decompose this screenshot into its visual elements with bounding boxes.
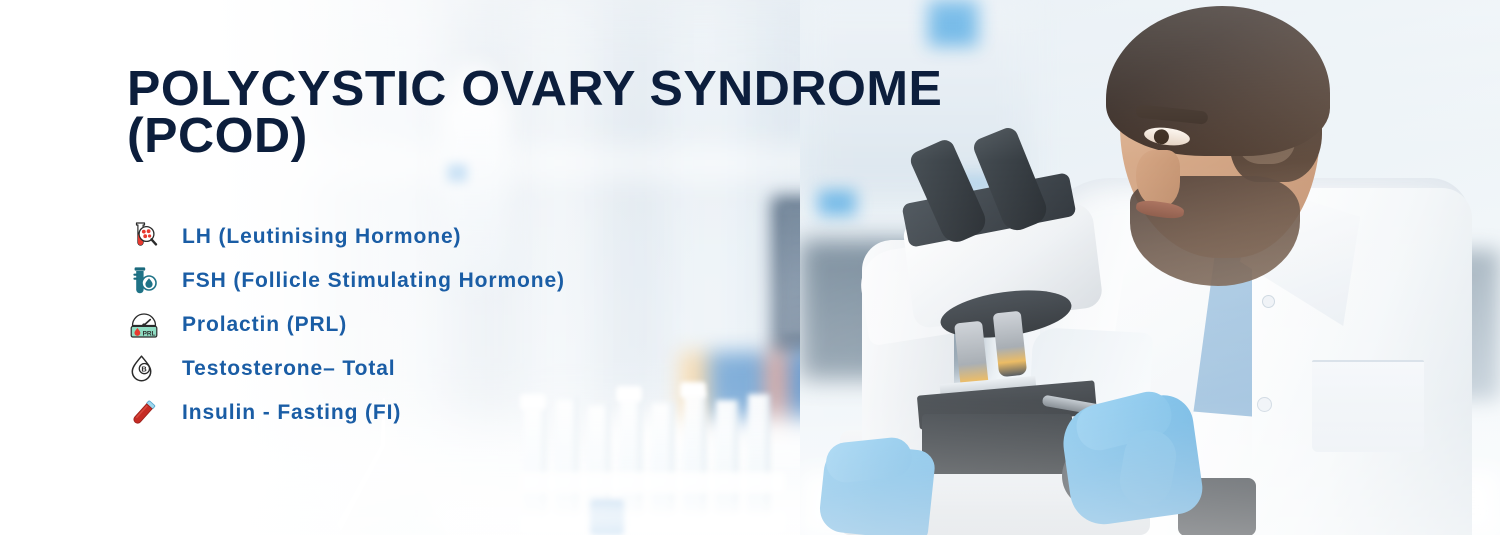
test-list: LH (Leutinising Hormone) FSH (Follicle S…: [128, 215, 565, 435]
list-item-label: FSH (Follicle Stimulating Hormone): [182, 269, 565, 293]
tilted-blood-tube-icon: [128, 394, 172, 432]
list-item-label: LH (Leutinising Hormone): [182, 225, 461, 249]
prl-gauge-meter-icon: PRL: [128, 306, 172, 344]
list-item: Insulin - Fasting (FI): [128, 391, 565, 435]
list-item: LH (Leutinising Hormone): [128, 215, 565, 259]
list-item: FSH (Follicle Stimulating Hormone): [128, 259, 565, 303]
list-item-label: Insulin - Fasting (FI): [182, 401, 401, 425]
list-item: B Testosterone– Total: [128, 347, 565, 391]
banner-content: POLYCYSTIC OVARY SYNDROME (PCOD) L: [0, 0, 1500, 535]
svg-text:B: B: [141, 364, 146, 373]
list-item-label: Testosterone– Total: [182, 357, 396, 381]
page-title: POLYCYSTIC OVARY SYNDROME (PCOD): [127, 66, 942, 160]
list-item-label: Prolactin (PRL): [182, 313, 347, 337]
blood-drop-b-icon: B: [128, 350, 172, 388]
svg-text:PRL: PRL: [143, 330, 156, 337]
pcod-test-banner: POLYCYSTIC OVARY SYNDROME (PCOD) L: [0, 0, 1500, 535]
test-tube-blood-magnifier-icon: [128, 218, 172, 256]
list-item: PRL Prolactin (PRL): [128, 303, 565, 347]
test-tube-droplet-icon: [128, 262, 172, 300]
